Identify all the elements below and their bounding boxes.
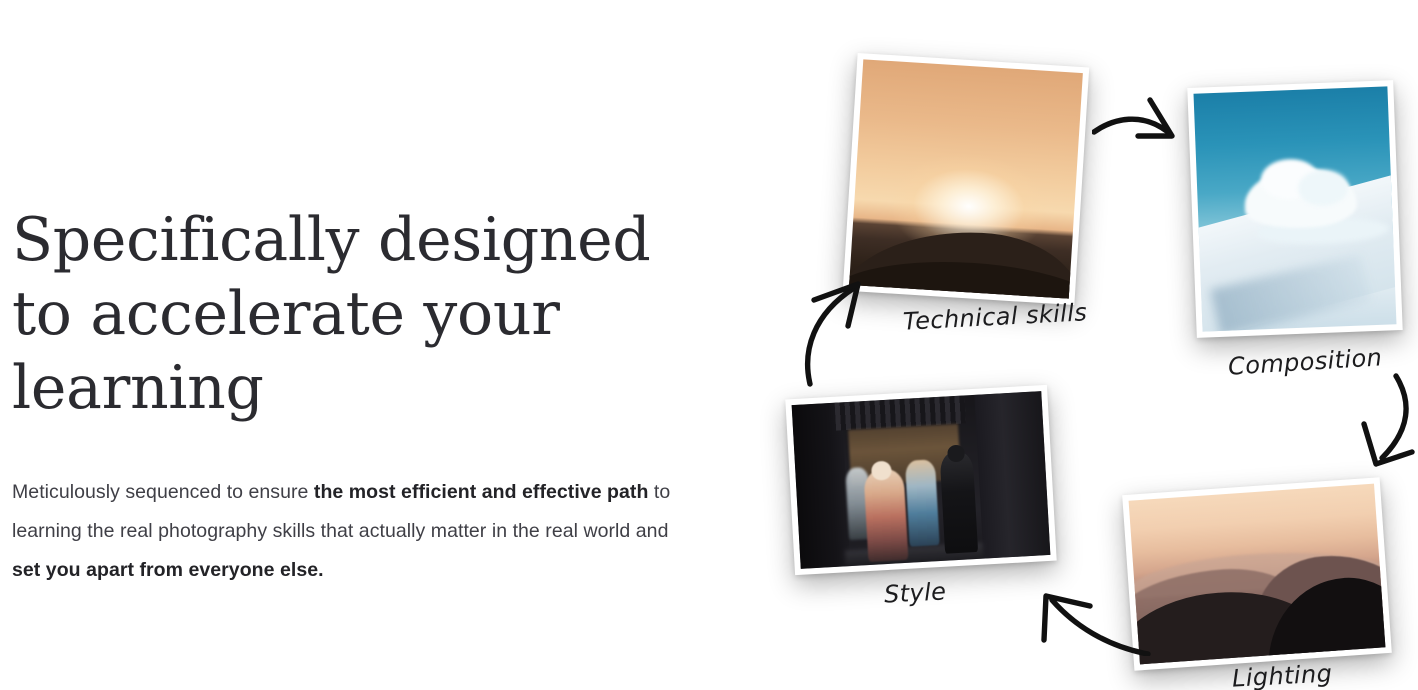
section-description: Meticulously sequenced to ensure the mos…: [12, 473, 684, 590]
photo-wall-right: [974, 391, 1051, 559]
photo-card-technical-skills[interactable]: [843, 53, 1089, 305]
curved-arrow-down-left-icon: [1352, 372, 1418, 476]
card-label-style: Style: [883, 577, 947, 608]
curved-arrow-up-left-icon: [1028, 584, 1152, 656]
photo-figure-blue: [905, 460, 940, 547]
description-part-1: Meticulously sequenced to ensure: [12, 481, 314, 503]
copy-column: Specifically designed to accelerate your…: [12, 204, 702, 590]
card-label-lighting: Lighting: [1231, 659, 1333, 690]
photo-figure-dark: [940, 451, 978, 554]
page-title: Specifically designed to accelerate your…: [12, 204, 652, 425]
description-bold-1: the most efficient and effective path: [314, 481, 649, 503]
description-bold-2: set you apart from everyone else.: [12, 559, 324, 581]
curved-arrow-right-icon: [1092, 92, 1196, 158]
photo-street-kimono: [792, 391, 1051, 569]
photo-mountain-ridges: [1129, 484, 1386, 665]
learning-path-section: Specifically designed to accelerate your…: [0, 0, 1418, 690]
card-label-technical-skills: Technical skills: [902, 298, 1087, 336]
photo-figure-kimono: [863, 468, 908, 562]
photo-sunset-hills: [849, 59, 1083, 298]
photo-figure-dark-head: [947, 445, 965, 462]
curved-arrow-up-right-icon: [792, 276, 872, 388]
photo-card-composition[interactable]: [1187, 80, 1402, 338]
photo-card-lighting[interactable]: [1122, 477, 1392, 671]
photo-cloud-snow: [1194, 86, 1397, 331]
photo-card-style[interactable]: [785, 385, 1056, 575]
